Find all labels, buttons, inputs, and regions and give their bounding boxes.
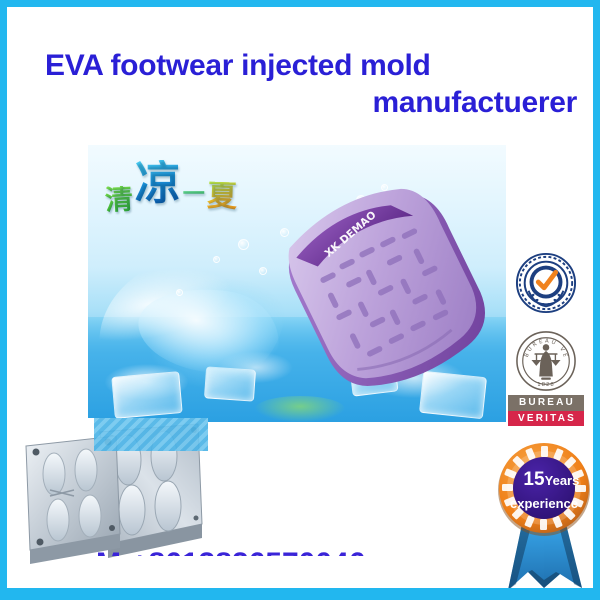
years-experience-badge: 15 Years experience (492, 438, 596, 596)
frame-border-bottom (0, 588, 600, 600)
water-droplet (238, 239, 249, 250)
supplier-assessment-seal-icon (515, 252, 577, 314)
headline-line-1: EVA footwear injected mold (7, 48, 577, 85)
years-value: 15 (523, 469, 545, 490)
promo-banner: EVA footwear injected mold manufactuerer… (0, 0, 600, 600)
frame-border-right (593, 0, 600, 600)
bureau-veritas-wordmark: BUREAU VERITAS (508, 395, 584, 426)
frame-border-top (0, 0, 600, 7)
slogan-char-1: 清 (104, 185, 133, 214)
svg-text:1828: 1828 (537, 382, 554, 388)
hero-product-photo: 清 凉 一 夏 (88, 145, 506, 422)
mold-product-photo (12, 418, 208, 570)
svg-text:experience: experience (510, 496, 578, 511)
mold-photo-backdrop (94, 418, 208, 451)
eva-slipper-illustration: XK DEMAO (280, 178, 497, 400)
frame-border-left (0, 0, 7, 600)
green-reflection (255, 396, 345, 422)
contact-phone-text: M:+8613826570046 (96, 549, 396, 556)
slogan-char-2: 凉 (135, 160, 181, 206)
svg-text:Years: Years (545, 473, 580, 488)
contact-phone-strip: M:+8613826570046 (96, 549, 396, 556)
bureau-veritas-mark-icon: 1828 BUREAU VERITAS (515, 330, 577, 392)
page-title: EVA footwear injected mold manufactuerer (7, 48, 593, 121)
chinese-slogan: 清 凉 一 夏 (105, 162, 237, 208)
water-droplet (176, 289, 183, 296)
slogan-char-3: 一 (183, 184, 205, 206)
certification-badges: 1828 BUREAU VERITAS BUREAU VERITAS (505, 252, 587, 426)
bv-word-veritas: VERITAS (508, 411, 584, 427)
slogan-char-4: 夏 (206, 181, 237, 212)
headline-line-2: manufactuerer (7, 85, 577, 122)
bv-word-bureau: BUREAU (508, 395, 584, 411)
